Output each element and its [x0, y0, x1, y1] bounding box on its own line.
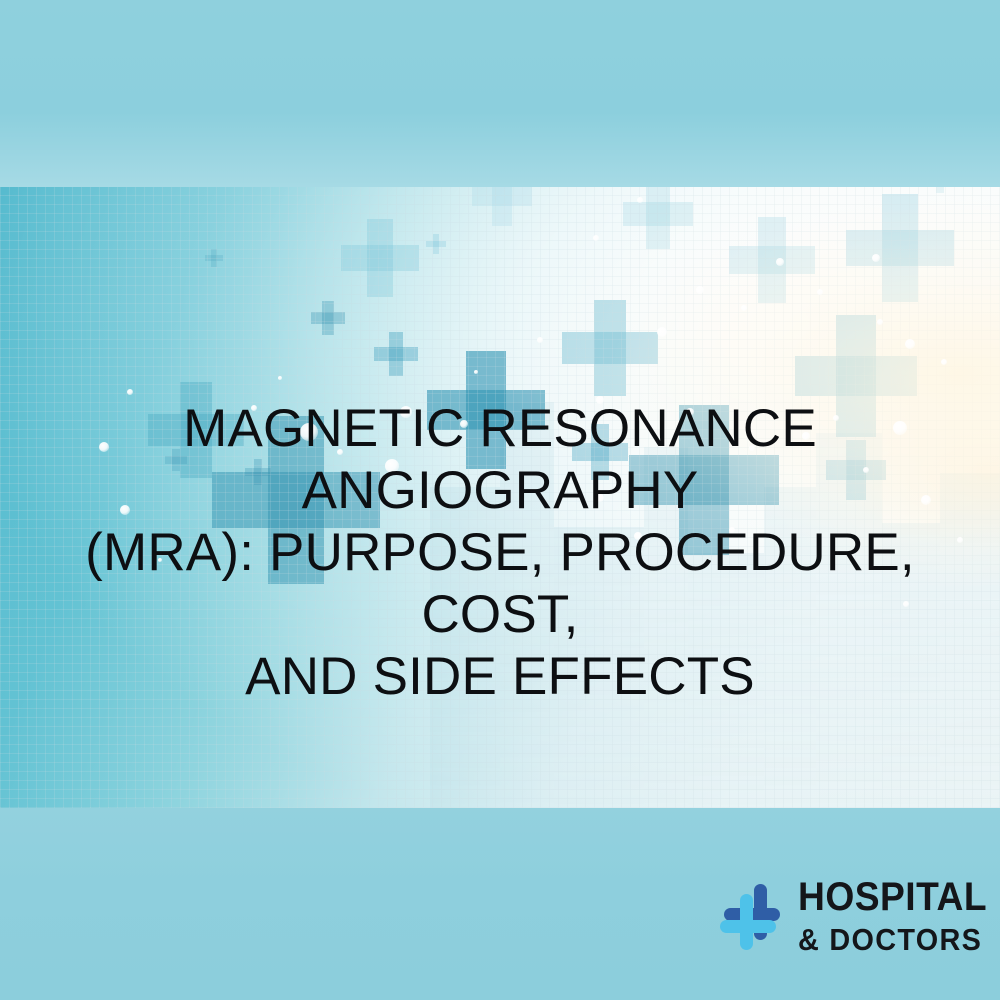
bokeh-dot [637, 197, 643, 203]
bokeh-dot [278, 376, 282, 380]
bokeh-dot [657, 327, 667, 337]
bokeh-dot [905, 339, 915, 349]
double-cross-logo-icon [716, 880, 788, 952]
bokeh-dot [941, 359, 947, 365]
top-band [0, 0, 1000, 187]
brand-name-primary: HOSPITAL [798, 877, 987, 917]
bokeh-dot [957, 537, 963, 543]
bokeh-dot [817, 289, 823, 295]
bokeh-dot [127, 389, 133, 395]
brand-logo[interactable]: HOSPITAL & DOCTORS [716, 876, 980, 956]
bokeh-dot [593, 235, 599, 241]
bokeh-dot [877, 319, 883, 325]
cross-light-vertical-bar [740, 894, 753, 950]
page-title: MAGNETIC RESONANCE ANGIOGRAPHY (MRA): PU… [60, 398, 940, 708]
bokeh-dot [474, 370, 478, 374]
brand-logo-text: HOSPITAL & DOCTORS [798, 877, 1000, 955]
bokeh-dot [741, 305, 747, 311]
bokeh-dot [696, 286, 704, 294]
bokeh-dot [872, 254, 880, 262]
bokeh-dot [537, 337, 543, 343]
bokeh-dot [776, 258, 784, 266]
brand-name-secondary: & DOCTORS [798, 924, 987, 955]
hero-banner: MAGNETIC RESONANCE ANGIOGRAPHY (MRA): PU… [0, 0, 1000, 1000]
